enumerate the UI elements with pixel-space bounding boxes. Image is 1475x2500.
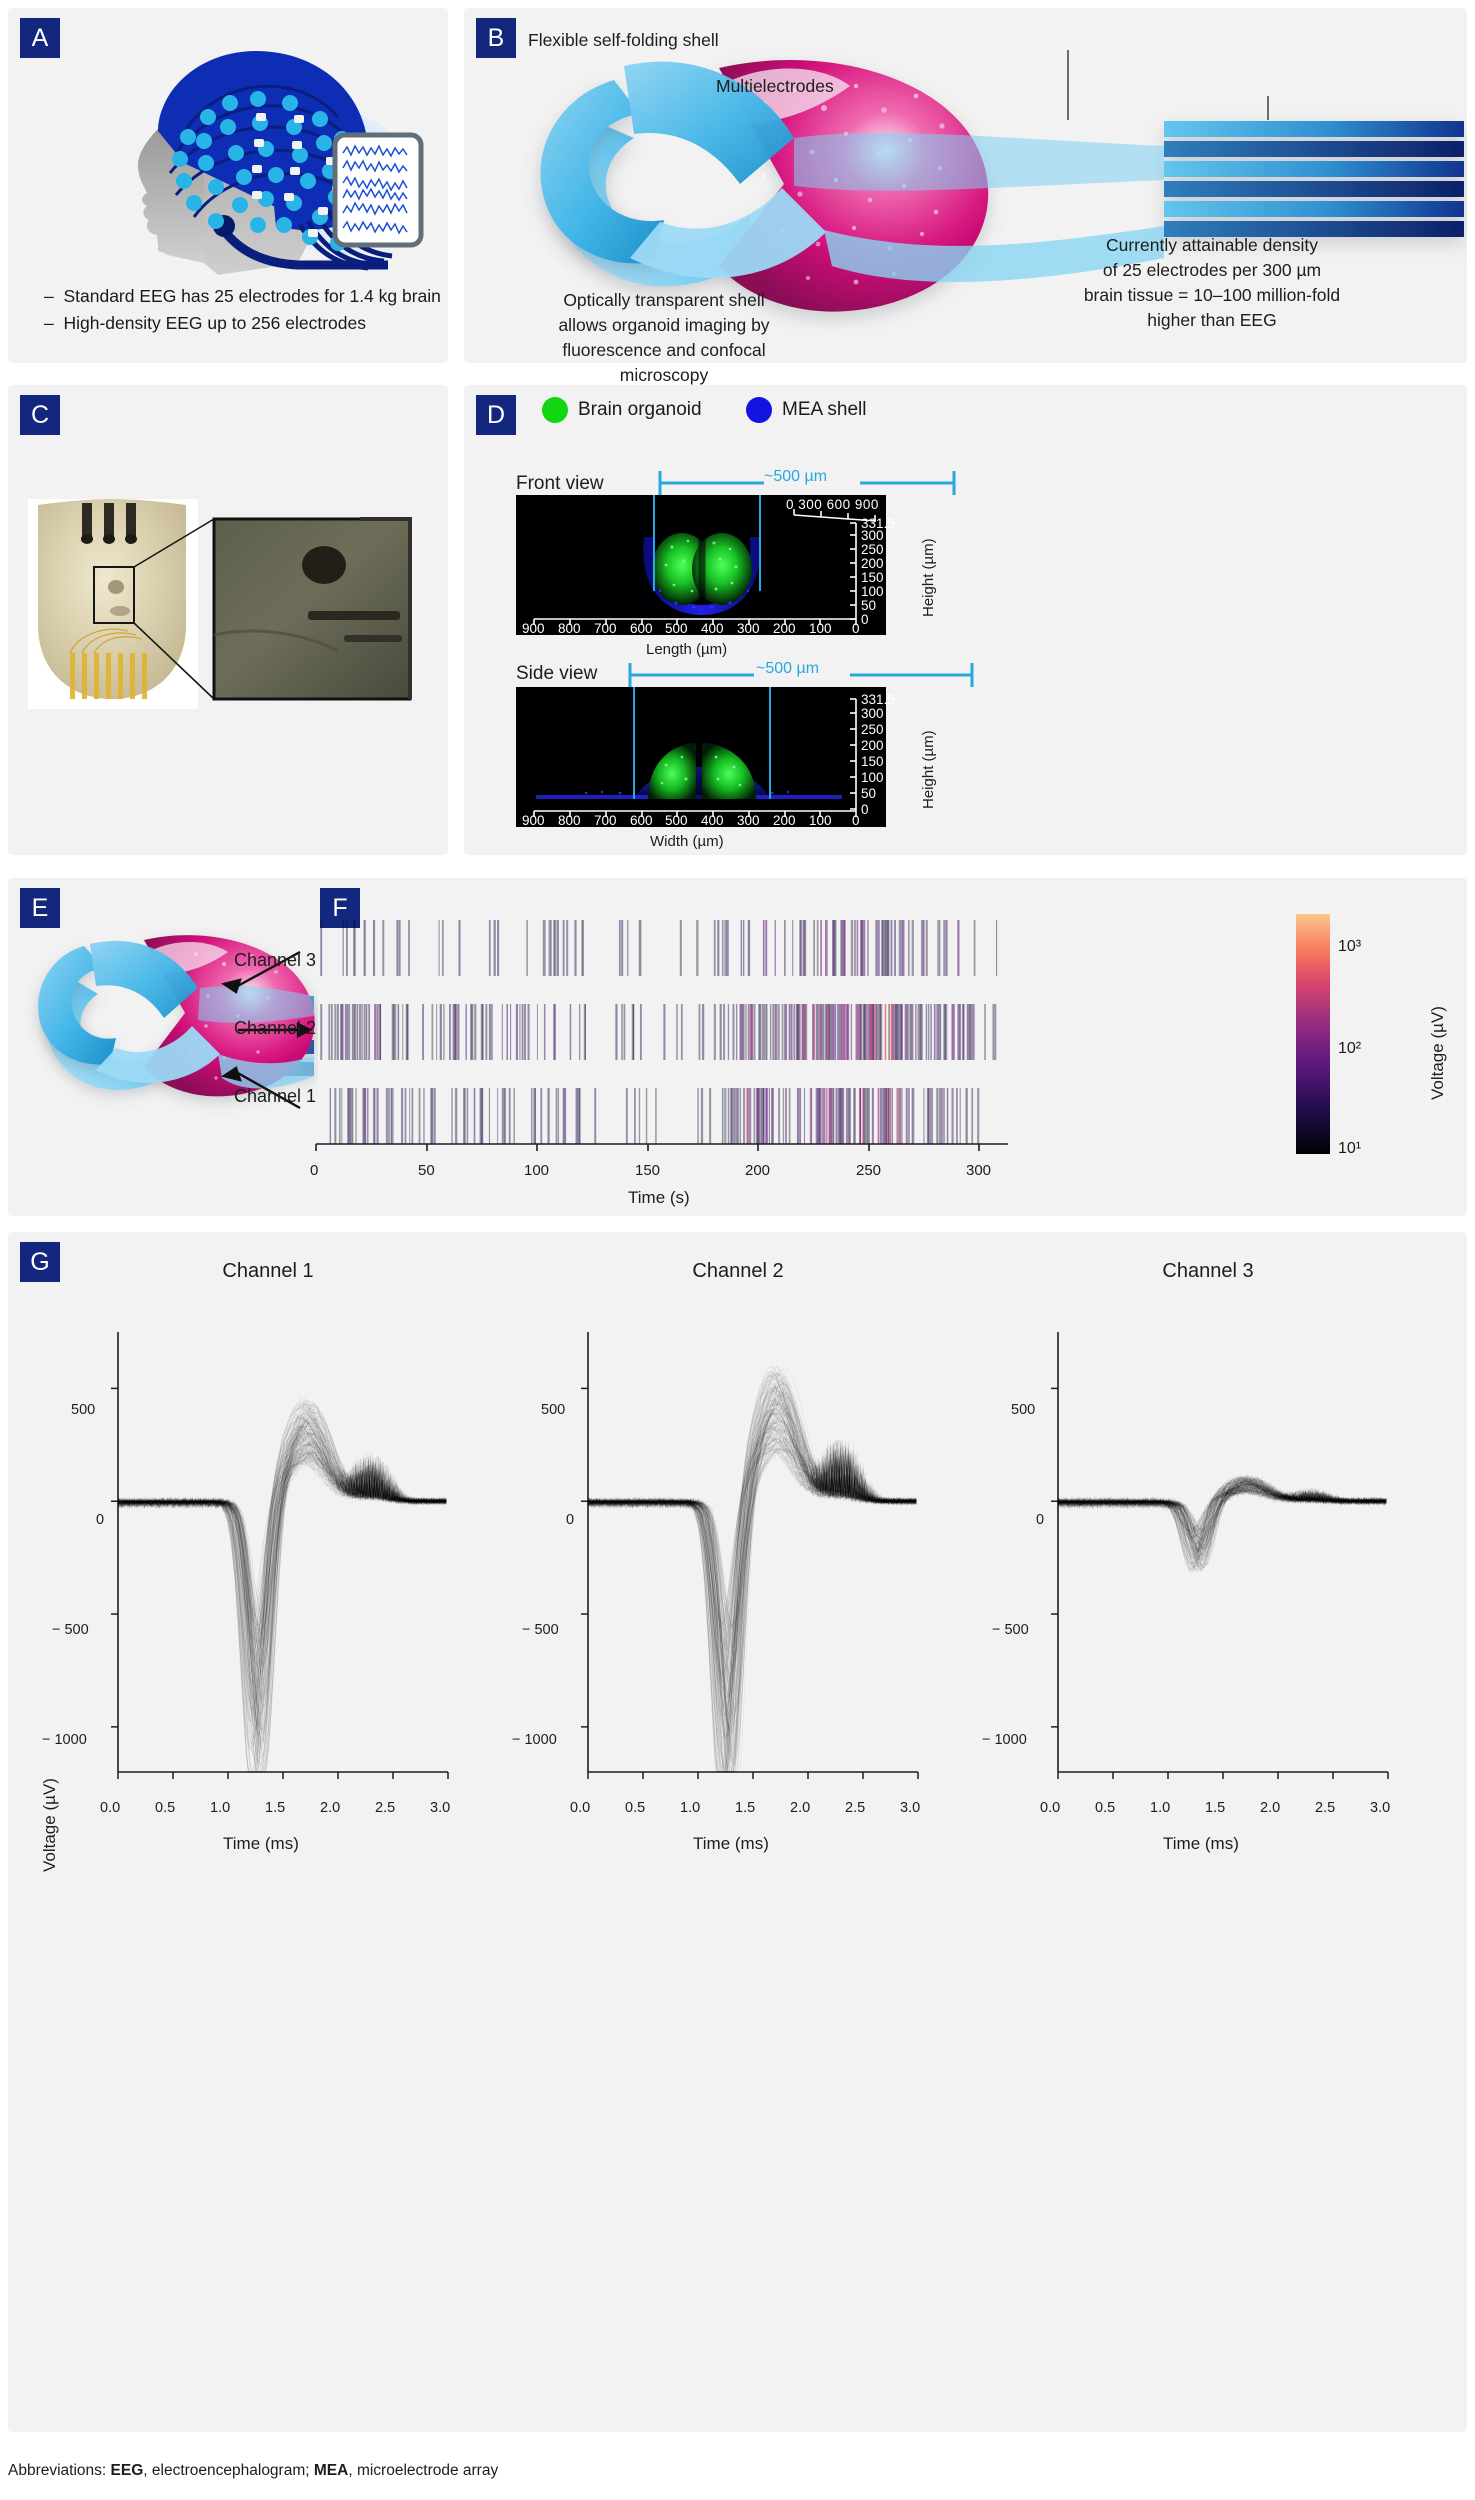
- side-xtick-2: 700: [594, 813, 617, 828]
- g2-xtick-2: 1.0: [680, 1800, 700, 1816]
- panel-f-xtick-5: 250: [856, 1162, 881, 1179]
- front-xtick-1: 800: [558, 621, 581, 636]
- g1-xtick-2: 1.0: [210, 1800, 230, 1816]
- panel-c-micrograph: [8, 485, 448, 825]
- legend-label-mea: MEA shell: [782, 399, 866, 421]
- blue-dot-icon: [746, 397, 772, 423]
- legend-label-organoid: Brain organoid: [578, 399, 702, 421]
- colorbar-tick-10: 10¹: [1338, 1140, 1361, 1158]
- panel-a: A: [8, 8, 448, 363]
- panel-f-xtick-4: 200: [745, 1162, 770, 1179]
- g2-xtick-1: 0.5: [625, 1800, 645, 1816]
- front-view-scalebar-label: ~500 µm: [764, 468, 827, 486]
- colorbar-tick-100: 10²: [1338, 1040, 1361, 1058]
- abbreviations-text: Abbreviations: EEG, electroencephalogram…: [8, 2462, 498, 2479]
- panel-b-multielectrodes-label: Multielectrodes: [716, 74, 834, 99]
- side-xtick-0: 900: [522, 813, 545, 828]
- colorbar-tick-1000: 10³: [1338, 938, 1361, 956]
- figure-root: A: [0, 0, 1475, 2500]
- front-ytick-6: 50: [861, 598, 876, 613]
- g1-xlabel: Time (ms): [223, 1834, 299, 1854]
- panel-f-xtick-2: 100: [524, 1162, 549, 1179]
- side-xtick-9: 0: [852, 813, 860, 828]
- g3-xtick-4: 2.0: [1260, 1800, 1280, 1816]
- front-xtick-7: 200: [773, 621, 796, 636]
- front-xtick-3: 600: [630, 621, 653, 636]
- front-ytick-5: 100: [861, 584, 884, 599]
- front-xtick-2: 700: [594, 621, 617, 636]
- abbreviations-footer: Abbreviations: EEG, electroencephalogram…: [8, 2462, 498, 2480]
- panel-b-caption-right: Currently attainable density of 25 elect…: [982, 233, 1442, 333]
- front-view-image: 0 300 600 900 331.5 300 250 200 150 100 …: [516, 495, 886, 635]
- g2-ytick-500: 500: [541, 1402, 565, 1418]
- panel-g-tag: G: [20, 1242, 60, 1282]
- side-xtick-5: 400: [701, 813, 724, 828]
- panel-a-bullet-2: – High-density EEG up to 256 electrodes: [44, 310, 366, 337]
- g1-ytick-m500: − 500: [52, 1622, 89, 1638]
- g2-ytick-m1000: − 1000: [512, 1732, 557, 1748]
- g3-xtick-6: 3.0: [1370, 1800, 1390, 1816]
- side-xtick-7: 200: [773, 813, 796, 828]
- g3-ytick-500: 500: [1011, 1402, 1035, 1418]
- g1-ytick-m1000: − 1000: [42, 1732, 87, 1748]
- side-view-ylabel: Height (µm): [920, 730, 937, 809]
- front-xtick-4: 500: [665, 621, 688, 636]
- g2-xlabel: Time (ms): [693, 1834, 769, 1854]
- panel-f-xtick-3: 150: [635, 1162, 660, 1179]
- front-view-title: Front view: [516, 473, 604, 495]
- g2-xtick-0: 0.0: [570, 1800, 590, 1816]
- side-xtick-4: 500: [665, 813, 688, 828]
- side-ytick-4: 150: [861, 754, 884, 769]
- panel-e-channel-3-label: Channel 3: [234, 950, 316, 971]
- g1-ytick-0: 0: [96, 1512, 104, 1528]
- panel-d-tag: D: [476, 395, 516, 435]
- side-view-xlabel: Width (µm): [650, 833, 724, 850]
- eeg-cap-illustration: [8, 13, 448, 283]
- panel-b-caption-left: Optically transparent shell allows organ…: [484, 288, 844, 388]
- g3-xlabel: Time (ms): [1163, 1834, 1239, 1854]
- g3-ytick-m500: − 500: [992, 1622, 1029, 1638]
- g1-xtick-6: 3.0: [430, 1800, 450, 1816]
- g2-ytick-0: 0: [566, 1512, 574, 1528]
- front-xtick-0: 900: [522, 621, 545, 636]
- side-view-image: 331.5 300 250 200 150 100 50 0 900 800 7…: [516, 687, 886, 827]
- panel-g-plot-1-title: Channel 1: [68, 1260, 468, 1283]
- side-xtick-6: 300: [737, 813, 760, 828]
- side-ytick-6: 50: [861, 786, 876, 801]
- panel-b-shell-label: Flexible self-folding shell: [528, 28, 719, 53]
- panel-ef: E F: [8, 878, 1467, 1216]
- g2-ytick-m500: − 500: [522, 1622, 559, 1638]
- panel-g-plot-3-title: Channel 3: [1008, 1260, 1408, 1283]
- side-ytick-3: 200: [861, 738, 884, 753]
- g3-xtick-1: 0.5: [1095, 1800, 1115, 1816]
- g3-ytick-m1000: − 1000: [982, 1732, 1027, 1748]
- front-xtick-8: 100: [809, 621, 832, 636]
- g1-xtick-5: 2.5: [375, 1800, 395, 1816]
- g3-xtick-2: 1.0: [1150, 1800, 1170, 1816]
- panel-c: C: [8, 385, 448, 855]
- g2-xtick-3: 1.5: [735, 1800, 755, 1816]
- panel-e-channel-1-label: Channel 1: [234, 1086, 316, 1107]
- side-view-scalebar-label: ~500 µm: [756, 660, 819, 678]
- front-view-xlabel: Length (µm): [646, 641, 727, 658]
- panel-f-xlabel: Time (s): [628, 1188, 690, 1208]
- g1-xtick-1: 0.5: [155, 1800, 175, 1816]
- g3-ytick-0: 0: [1036, 1512, 1044, 1528]
- front-ytick-3: 200: [861, 556, 884, 571]
- side-ytick-7: 0: [861, 802, 869, 817]
- green-dot-icon: [542, 397, 568, 423]
- front-ytick-2: 250: [861, 542, 884, 557]
- side-xtick-3: 600: [630, 813, 653, 828]
- panel-f-raster-plot: [308, 896, 1298, 1176]
- g1-ytick-500: 500: [71, 1402, 95, 1418]
- g2-xtick-5: 2.5: [845, 1800, 865, 1816]
- g1-xtick-0: 0.0: [100, 1800, 120, 1816]
- side-ytick-2: 250: [861, 722, 884, 737]
- panel-f-xtick-1: 50: [418, 1162, 435, 1179]
- side-ytick-5: 100: [861, 770, 884, 785]
- front-xtick-6: 300: [737, 621, 760, 636]
- front-ytick-4: 150: [861, 570, 884, 585]
- panel-f-xtick-6: 300: [966, 1162, 991, 1179]
- front-xtick-5: 400: [701, 621, 724, 636]
- g1-xtick-3: 1.5: [265, 1800, 285, 1816]
- side-xtick-8: 100: [809, 813, 832, 828]
- g3-xtick-5: 2.5: [1315, 1800, 1335, 1816]
- side-xtick-1: 800: [558, 813, 581, 828]
- side-view-title: Side view: [516, 663, 597, 685]
- panel-g-plot-2-title: Channel 2: [538, 1260, 938, 1283]
- front-view-ylabel: Height (µm): [920, 538, 937, 617]
- front-xtick-9: 0: [852, 621, 860, 636]
- panel-f-colorbar-label: Voltage (µV): [1428, 1006, 1448, 1100]
- panel-a-bullet-1: – Standard EEG has 25 electrodes for 1.4…: [44, 283, 441, 310]
- front-ytick-1: 300: [861, 528, 884, 543]
- g2-xtick-4: 2.0: [790, 1800, 810, 1816]
- panel-d-legend-item-mea: MEA shell: [746, 397, 866, 423]
- panel-b: B: [464, 8, 1467, 363]
- g2-xtick-6: 3.0: [900, 1800, 920, 1816]
- side-ytick-0: 331.5: [861, 692, 895, 707]
- panel-e-channel-2-label: Channel 2: [234, 1018, 316, 1039]
- side-ytick-1: 300: [861, 706, 884, 721]
- panel-c-tag: C: [20, 395, 60, 435]
- g1-xtick-4: 2.0: [320, 1800, 340, 1816]
- panel-d: D Brain organoid MEA shell Front view ~5…: [464, 385, 1467, 855]
- g3-xtick-3: 1.5: [1205, 1800, 1225, 1816]
- panel-d-legend-item-organoid: Brain organoid: [542, 397, 702, 423]
- panel-f-colorbar: [1296, 914, 1330, 1154]
- front-ytick-7: 0: [861, 612, 869, 627]
- front-depth-ticks: 0 300 600 900: [786, 497, 879, 512]
- panel-g: G Channel 1 Channel 2 Channel 3 Voltage …: [8, 1232, 1467, 2432]
- panel-f-xtick-0: 0: [310, 1162, 318, 1179]
- g3-xtick-0: 0.0: [1040, 1800, 1060, 1816]
